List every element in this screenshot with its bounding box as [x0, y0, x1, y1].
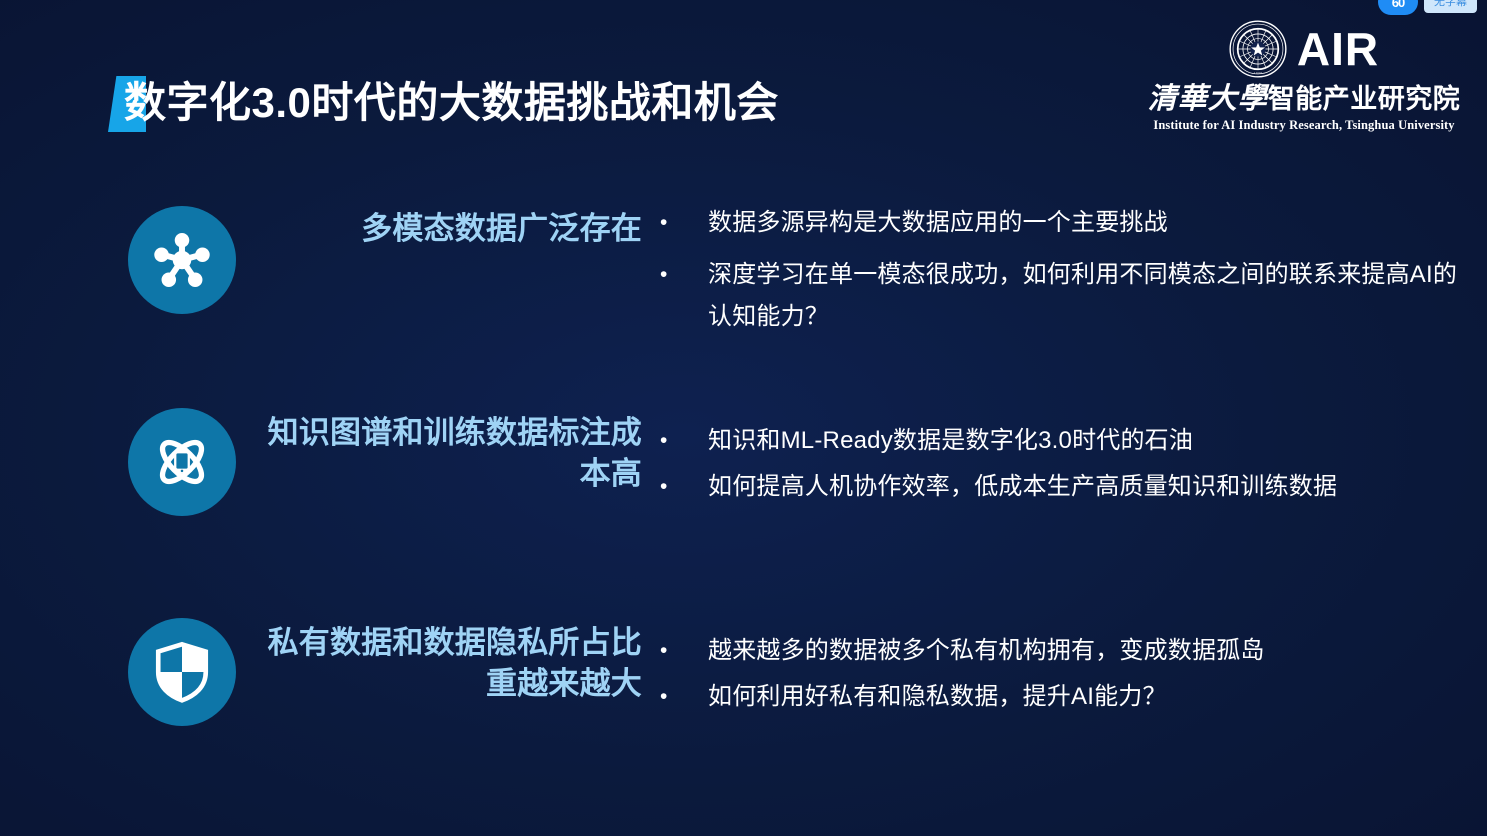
list-item: • 深度学习在单一模态很成功，如何利用不同模态之间的联系来提高AI的认知能力？ — [652, 254, 1477, 338]
air-logo-block: 1 9 6 0 AIR 清華大學智能产业研究院 Institute for AI… — [1139, 18, 1469, 133]
page-title: 数字化3.0时代的大数据挑战和机会 — [124, 74, 779, 132]
content-row: 多模态数据广泛存在 • 数据多源异构是大数据应用的一个主要挑战 • 深度学习在单… — [0, 180, 1487, 390]
svg-text:1 9 6 0: 1 9 6 0 — [1254, 71, 1263, 75]
bullet-marker-icon: • — [652, 466, 708, 508]
air-wordmark-text: AIR — [1297, 26, 1379, 72]
logo-english-name: Institute for AI Industry Research, Tsin… — [1139, 117, 1469, 133]
logo-chinese-name: 清華大學智能产业研究院 — [1139, 82, 1469, 116]
tsinghua-seal-icon: 1 9 6 0 — [1229, 20, 1287, 78]
row-bullets: • 知识和ML-Ready数据是数字化3.0时代的石油 • 如何提高人机协作效率… — [652, 420, 1477, 512]
network-nodes-icon — [128, 206, 236, 314]
bullet-marker-icon: • — [652, 630, 708, 672]
row-heading: 多模态数据广泛存在 — [250, 208, 642, 249]
content-row: 私有数据和数据隐私所占比重越来越大 • 越来越多的数据被多个私有机构拥有，变成数… — [0, 600, 1487, 810]
bullet-text: 数据多源异构是大数据应用的一个主要挑战 — [708, 202, 1168, 244]
bullet-marker-icon: • — [652, 676, 708, 718]
atom-device-icon — [128, 408, 236, 516]
bullet-text: 深度学习在单一模态很成功，如何利用不同模态之间的联系来提高AI的认知能力？ — [708, 254, 1477, 338]
bullet-text: 知识和ML-Ready数据是数字化3.0时代的石油 — [708, 420, 1193, 462]
logo-top-row: 1 9 6 0 AIR — [1139, 18, 1469, 80]
bullet-text: 越来越多的数据被多个私有机构拥有，变成数据孤岛 — [708, 630, 1265, 672]
row-bullets: • 越来越多的数据被多个私有机构拥有，变成数据孤岛 • 如何利用好私有和隐私数据… — [652, 630, 1477, 722]
bullet-marker-icon: • — [652, 202, 708, 244]
content-rows: 多模态数据广泛存在 • 数据多源异构是大数据应用的一个主要挑战 • 深度学习在单… — [0, 180, 1487, 810]
slide-canvas: 60 无字幕 数字化3.0时代的大数据挑战和机会 — [0, 0, 1487, 836]
player-subtitle-panel[interactable]: 无字幕 — [1424, 0, 1477, 13]
bullet-text: 如何利用好私有和隐私数据，提升AI能力？ — [708, 676, 1167, 718]
bullet-text: 如何提高人机协作效率，低成本生产高质量知识和训练数据 — [708, 466, 1337, 508]
bullet-marker-icon: • — [652, 420, 708, 462]
list-item: • 如何利用好私有和隐私数据，提升AI能力？ — [652, 676, 1477, 718]
logo-chinese-rest: 智能产业研究院 — [1268, 84, 1461, 114]
content-row: 知识图谱和训练数据标注成本高 • 知识和ML-Ready数据是数字化3.0时代的… — [0, 390, 1487, 600]
player-speed-badge[interactable]: 60 — [1378, 0, 1418, 15]
bullet-marker-icon: • — [652, 254, 708, 296]
list-item: • 越来越多的数据被多个私有机构拥有，变成数据孤岛 — [652, 630, 1477, 672]
shield-quartered-icon — [128, 618, 236, 726]
list-item: • 如何提高人机协作效率，低成本生产高质量知识和训练数据 — [652, 466, 1477, 508]
row-bullets: • 数据多源异构是大数据应用的一个主要挑战 • 深度学习在单一模态很成功，如何利… — [652, 202, 1477, 348]
player-overlay-widget[interactable]: 60 无字幕 — [1378, 0, 1477, 16]
row-heading: 知识图谱和训练数据标注成本高 — [250, 412, 642, 494]
air-wordmark: AIR — [1297, 26, 1379, 72]
row-heading: 私有数据和数据隐私所占比重越来越大 — [250, 622, 642, 704]
logo-chinese-script: 清華大學 — [1148, 83, 1268, 115]
list-item: • 知识和ML-Ready数据是数字化3.0时代的石油 — [652, 420, 1477, 462]
list-item: • 数据多源异构是大数据应用的一个主要挑战 — [652, 202, 1477, 244]
